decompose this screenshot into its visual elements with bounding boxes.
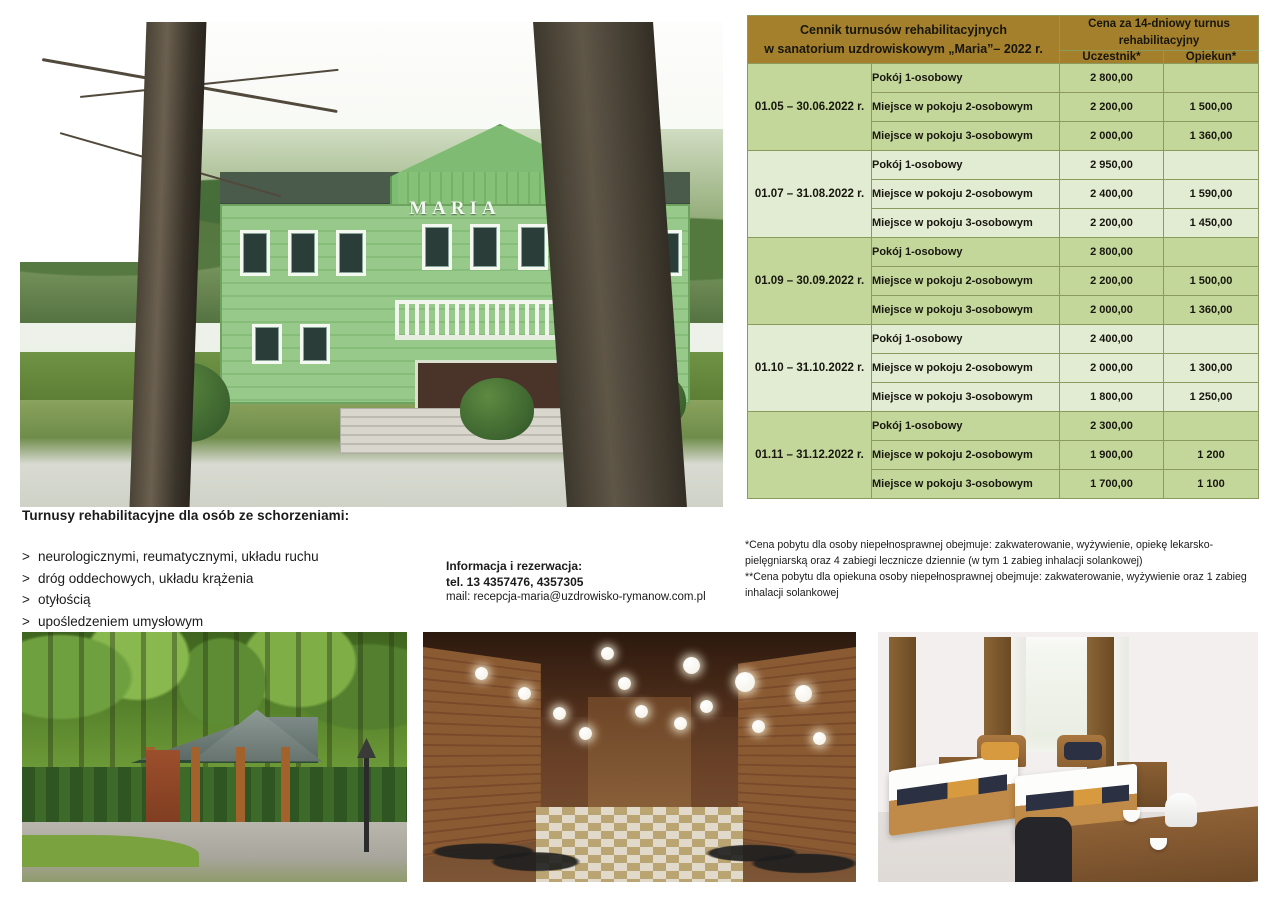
- contact-title: Informacja i rezerwacja:: [446, 559, 706, 575]
- table-title-line1: Cennik turnusów rehabilitacyjnych: [748, 21, 1059, 40]
- caretaker-price-cell: 1 100: [1164, 470, 1259, 499]
- caretaker-price-cell: [1164, 412, 1259, 441]
- room-type-cell: Miejsce w pokoju 3-osobowym: [872, 470, 1060, 499]
- table-row: 01.11 – 31.12.2022 r. Pokój 1-osobowy 2 …: [748, 412, 1259, 441]
- room-type-cell: Miejsce w pokoju 3-osobowym: [872, 296, 1060, 325]
- globe-lamp-icon: [579, 727, 592, 740]
- period-cell: 01.11 – 31.12.2022 r.: [748, 412, 872, 499]
- window-icon: [518, 224, 548, 270]
- caretaker-price-cell: [1164, 325, 1259, 354]
- gazebo-photo: [22, 632, 407, 882]
- participant-price-cell: 2 400,00: [1060, 180, 1164, 209]
- room-type-cell: Pokój 1-osobowy: [872, 64, 1060, 93]
- participant-price-cell: 2 800,00: [1060, 238, 1164, 267]
- globe-lamp-icon: [618, 677, 631, 690]
- participant-price-cell: 2 000,00: [1060, 354, 1164, 383]
- table-title-line2: w sanatorium uzdrowiskowym „Maria”– 2022…: [748, 40, 1059, 59]
- participant-price-cell: 2 950,00: [1060, 151, 1164, 180]
- period-cell: 01.07 – 31.08.2022 r.: [748, 151, 872, 238]
- caretaker-price-cell: 1 590,00: [1164, 180, 1259, 209]
- curtain: [889, 637, 916, 772]
- globe-lamp-icon: [795, 685, 812, 702]
- room-type-cell: Pokój 1-osobowy: [872, 412, 1060, 441]
- caretaker-price-cell: 1 250,00: [1164, 383, 1259, 412]
- globe-lamp-icon: [683, 657, 700, 674]
- participant-price-cell: 2 200,00: [1060, 93, 1164, 122]
- globe-lamp-icon: [735, 672, 755, 692]
- participant-price-cell: 2 000,00: [1060, 296, 1164, 325]
- caretaker-price-cell: [1164, 64, 1259, 93]
- contact-phone[interactable]: tel. 13 4357476, 4357305: [446, 575, 706, 591]
- globe-lamp-icon: [475, 667, 488, 680]
- room-type-cell: Miejsce w pokoju 2-osobowym: [872, 354, 1060, 383]
- caretaker-price-cell: 1 200: [1164, 441, 1259, 470]
- room-type-cell: Pokój 1-osobowy: [872, 151, 1060, 180]
- column-header-participant: Uczestnik*: [1060, 51, 1164, 64]
- list-item: >dróg oddechowych, układu krążenia: [22, 568, 319, 590]
- caretaker-price-cell: 1 360,00: [1164, 296, 1259, 325]
- window-icon: [240, 230, 270, 276]
- price-table-body: 01.05 – 30.06.2022 r. Pokój 1-osobowy 2 …: [748, 64, 1259, 499]
- bullet-marker-icon: >: [22, 568, 38, 590]
- caretaker-price-cell: [1164, 238, 1259, 267]
- participant-price-cell: 1 900,00: [1060, 441, 1164, 470]
- window-icon: [470, 224, 500, 270]
- globe-lamp-icon: [813, 732, 826, 745]
- bedroom-photo: [878, 632, 1258, 882]
- list-item: >upośledzeniem umysłowym: [22, 611, 319, 633]
- window-icon: [422, 224, 452, 270]
- office-chair: [1015, 817, 1072, 882]
- pillow: [1064, 742, 1102, 760]
- column-header-caretaker: Opiekun*: [1164, 51, 1259, 64]
- room-type-cell: Miejsce w pokoju 2-osobowym: [872, 441, 1060, 470]
- dining-hall-photo: [423, 632, 856, 882]
- window-icon: [252, 324, 282, 364]
- table-row: 01.10 – 31.10.2022 r. Pokój 1-osobowy 2 …: [748, 325, 1259, 354]
- caretaker-price-cell: 1 360,00: [1164, 122, 1259, 151]
- table-row: 01.07 – 31.08.2022 r. Pokój 1-osobowy 2 …: [748, 151, 1259, 180]
- room-type-cell: Miejsce w pokoju 3-osobowym: [872, 383, 1060, 412]
- bullet-marker-icon: >: [22, 589, 38, 611]
- room-type-cell: Pokój 1-osobowy: [872, 238, 1060, 267]
- caretaker-price-cell: 1 500,00: [1164, 267, 1259, 296]
- price-header-cell: Cena za 14-dniowy turnus rehabilitacyjny: [1060, 16, 1259, 51]
- room-type-cell: Miejsce w pokoju 3-osobowym: [872, 122, 1060, 151]
- footnote-participant: *Cena pobytu dla osoby niepełnosprawnej …: [745, 537, 1261, 569]
- electric-kettle: [1165, 793, 1197, 827]
- globe-lamp-icon: [635, 705, 648, 718]
- room-type-cell: Miejsce w pokoju 2-osobowym: [872, 267, 1060, 296]
- window-icon: [300, 324, 330, 364]
- contact-block: Informacja i rezerwacja: tel. 13 4357476…: [446, 559, 706, 606]
- coffee-cup: [1150, 838, 1167, 850]
- bullet-marker-icon: >: [22, 546, 38, 568]
- participant-price-cell: 2 400,00: [1060, 325, 1164, 354]
- participant-price-cell: 2 200,00: [1060, 267, 1164, 296]
- park-lamp-icon: [364, 752, 369, 852]
- table-footnotes: *Cena pobytu dla osoby niepełnosprawnej …: [745, 537, 1261, 601]
- room-type-cell: Miejsce w pokoju 2-osobowym: [872, 93, 1060, 122]
- participant-price-cell: 2 000,00: [1060, 122, 1164, 151]
- brick-chimney: [146, 750, 180, 830]
- participant-price-cell: 2 200,00: [1060, 209, 1164, 238]
- participant-price-cell: 2 800,00: [1060, 64, 1164, 93]
- globe-lamp-icon: [752, 720, 765, 733]
- table-row: 01.05 – 30.06.2022 r. Pokój 1-osobowy 2 …: [748, 64, 1259, 93]
- list-item-label: neurologicznymi, reumatycznymi, układu r…: [38, 549, 319, 564]
- globe-lamp-icon: [553, 707, 566, 720]
- page-title: Turnusy rehabilitacyjne dla osób ze scho…: [22, 508, 349, 523]
- table-title-cell: Cennik turnusów rehabilitacyjnych w sana…: [748, 16, 1060, 64]
- room-type-cell: Miejsce w pokoju 3-osobowym: [872, 209, 1060, 238]
- bullet-marker-icon: >: [22, 611, 38, 633]
- sanatorium-building-photo: MARIA: [20, 22, 723, 507]
- building-name-sign: MARIA: [220, 198, 690, 220]
- pillow: [981, 742, 1019, 760]
- participant-price-cell: 1 800,00: [1060, 383, 1164, 412]
- list-item-label: dróg oddechowych, układu krążenia: [38, 571, 253, 586]
- room-type-cell: Pokój 1-osobowy: [872, 325, 1060, 354]
- tables-and-chairs: [423, 792, 856, 877]
- globe-lamp-icon: [700, 700, 713, 713]
- price-table: Cennik turnusów rehabilitacyjnych w sana…: [747, 15, 1259, 499]
- list-item-label: otyłością: [38, 592, 91, 607]
- period-cell: 01.10 – 31.10.2022 r.: [748, 325, 872, 412]
- conditions-list: >neurologicznymi, reumatycznymi, układu …: [22, 546, 319, 632]
- caretaker-price-cell: 1 500,00: [1164, 93, 1259, 122]
- participant-price-cell: 2 300,00: [1060, 412, 1164, 441]
- caretaker-price-cell: 1 450,00: [1164, 209, 1259, 238]
- window-icon: [288, 230, 318, 276]
- table-row: 01.09 – 30.09.2022 r. Pokój 1-osobowy 2 …: [748, 238, 1259, 267]
- period-cell: 01.05 – 30.06.2022 r.: [748, 64, 872, 151]
- caretaker-price-cell: 1 300,00: [1164, 354, 1259, 383]
- window-icon: [336, 230, 366, 276]
- price-table-header: Cennik turnusów rehabilitacyjnych w sana…: [748, 16, 1259, 64]
- caretaker-price-cell: [1164, 151, 1259, 180]
- list-item: >otyłością: [22, 589, 319, 611]
- price-table-container: Cennik turnusów rehabilitacyjnych w sana…: [747, 15, 1258, 499]
- list-item-label: upośledzeniem umysłowym: [38, 614, 203, 629]
- footnote-caretaker: **Cena pobytu dla opiekuna osoby niepełn…: [745, 569, 1261, 601]
- contact-email[interactable]: mail: recepcja-maria@uzdrowisko-rymanow.…: [446, 590, 706, 606]
- brochure-page: MARIA: [0, 0, 1280, 905]
- shrub: [460, 378, 534, 440]
- list-item: >neurologicznymi, reumatycznymi, układu …: [22, 546, 319, 568]
- globe-lamp-icon: [601, 647, 614, 660]
- room-type-cell: Miejsce w pokoju 2-osobowym: [872, 180, 1060, 209]
- period-cell: 01.09 – 30.09.2022 r.: [748, 238, 872, 325]
- participant-price-cell: 1 700,00: [1060, 470, 1164, 499]
